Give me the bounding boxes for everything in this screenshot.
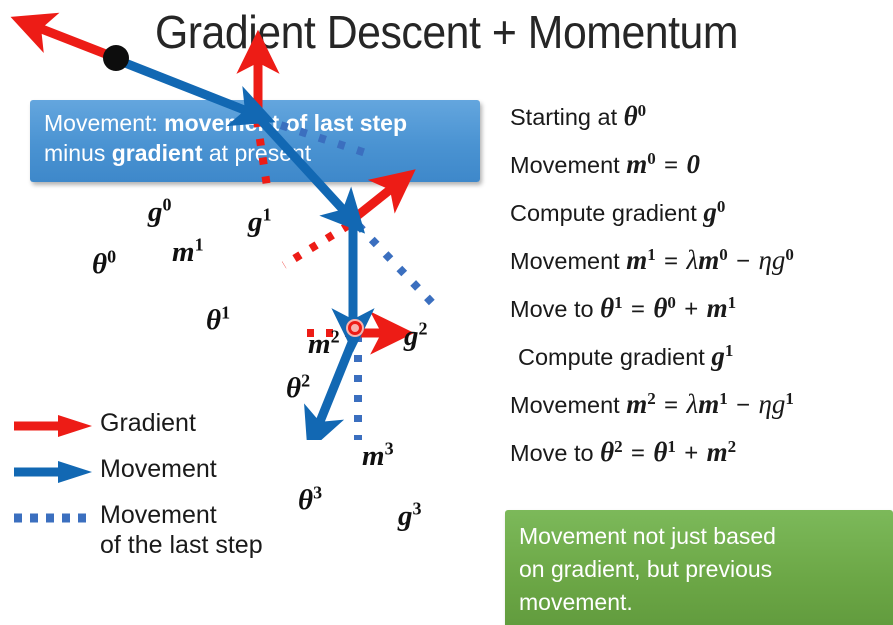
label-g0: g0 <box>148 196 172 229</box>
label-g3-base: g <box>398 500 413 532</box>
label-theta2-base: θ <box>286 372 301 404</box>
equation-6-var4-superscript: 1 <box>785 389 794 408</box>
equation-6-var1-superscript: 2 <box>647 389 656 408</box>
equation-7-var2-superscript: 1 <box>667 437 676 456</box>
equation-5-var1: g <box>711 341 725 371</box>
equation-row-3: Movement m1 = λm0 − ηg0 <box>510 236 893 284</box>
equation-row-5: Compute gradient g1 <box>510 332 893 380</box>
gradient-arrow-g0 <box>34 26 116 58</box>
equation-6-var1: m <box>626 389 647 419</box>
gradient-arrow-g2 <box>352 185 396 220</box>
label-theta2-superscript: 2 <box>301 370 310 390</box>
equation-0-var1: θ <box>624 101 638 131</box>
equation-row-0: Starting at θ0 <box>510 92 893 140</box>
label-theta3-superscript: 3 <box>313 482 322 502</box>
label-g0-superscript: 0 <box>163 194 172 214</box>
green-callout-line-2: on gradient, but previous <box>519 553 881 586</box>
equation-list: Starting at θ0Movement m0 = 0Compute gra… <box>510 92 893 476</box>
equation-7-var1: θ <box>600 437 614 467</box>
label-m3-superscript: 3 <box>385 438 394 458</box>
equation-3-var1: m <box>626 245 647 275</box>
dotted-from-theta2 <box>358 225 438 309</box>
label-g2-base: g <box>404 320 419 352</box>
label-theta3: θ3 <box>298 484 322 517</box>
equation-1-op1: = <box>656 152 687 179</box>
equation-row-6: Movement m2 = λm1 − ηg1 <box>510 380 893 428</box>
label-theta0: θ0 <box>92 248 116 281</box>
equation-4-var1: θ <box>600 293 614 323</box>
label-m3: m3 <box>362 440 394 473</box>
equation-7-var1-superscript: 2 <box>614 437 623 456</box>
label-g1-base: g <box>248 206 263 238</box>
equation-label-7: Move to <box>510 440 600 466</box>
equation-label-0: Starting at <box>510 104 624 130</box>
equation-3-var4: ηg <box>758 245 785 275</box>
equation-7-var3: m <box>707 437 728 467</box>
equation-2-var1: g <box>703 197 717 227</box>
equation-row-7: Move to θ2 = θ1 + m2 <box>510 428 893 476</box>
equation-6-var2: λ <box>687 389 699 419</box>
green-callout-line-3: movement. <box>519 586 881 619</box>
label-g2: g2 <box>404 320 428 353</box>
label-theta2: θ2 <box>286 372 310 405</box>
equation-label-6: Movement <box>510 392 626 418</box>
equation-3-var4-superscript: 0 <box>785 245 794 264</box>
equation-1-var2: 0 <box>687 149 701 179</box>
node-marker-theta0 <box>103 45 129 71</box>
label-g1-superscript: 1 <box>263 204 272 224</box>
equation-7-op1: = <box>623 440 654 467</box>
label-m2-superscript: 2 <box>331 326 340 346</box>
label-g3-superscript: 3 <box>413 498 422 518</box>
equation-3-op1: = <box>656 248 687 275</box>
equation-label-5: Compute gradient <box>518 344 711 370</box>
equation-1-var1-superscript: 0 <box>647 149 656 168</box>
label-g2-superscript: 2 <box>419 318 428 338</box>
equation-label-3: Movement <box>510 248 626 274</box>
equation-4-var1-superscript: 1 <box>614 293 623 312</box>
label-g3: g3 <box>398 500 422 533</box>
optimization-path-diagram: g0θ0m1g1θ1m2g2θ2m3θ3g3 <box>0 185 500 625</box>
equation-0-var1-superscript: 0 <box>638 101 647 120</box>
label-theta3-base: θ <box>298 484 313 516</box>
equation-5-var1-superscript: 1 <box>725 341 734 360</box>
equation-3-var2: λ <box>687 245 699 275</box>
movement-arrow-m1 <box>120 61 252 113</box>
equation-4-var2-superscript: 0 <box>667 293 676 312</box>
equation-7-var2: θ <box>653 437 667 467</box>
equation-6-op3: − <box>728 392 759 419</box>
equation-row-4: Move to θ1 = θ0 + m1 <box>510 284 893 332</box>
green-callout-line-1: Movement not just based <box>519 520 881 553</box>
label-g1: g1 <box>248 206 272 239</box>
label-m1-base: m <box>172 236 195 268</box>
equation-4-var3-superscript: 1 <box>728 293 737 312</box>
equation-6-var3: m <box>698 389 719 419</box>
gradient-arrows <box>34 26 396 333</box>
label-g0-base: g <box>148 196 163 228</box>
equation-3-var3: m <box>698 245 719 275</box>
equation-7-op2: + <box>676 440 707 467</box>
equation-6-var3-superscript: 1 <box>719 389 728 408</box>
label-theta0-base: θ <box>92 248 107 280</box>
equation-4-var2: θ <box>653 293 667 323</box>
label-theta1-superscript: 1 <box>221 302 230 322</box>
equation-row-1: Movement m0 = 0 <box>510 140 893 188</box>
equation-4-op1: = <box>623 296 654 323</box>
equation-row-2: Compute gradient g0 <box>510 188 893 236</box>
equation-label-2: Compute gradient <box>510 200 703 226</box>
equation-label-4: Move to <box>510 296 600 322</box>
equation-6-op1: = <box>656 392 687 419</box>
label-m3-base: m <box>362 440 385 472</box>
equation-4-var3: m <box>707 293 728 323</box>
equation-label-1: Movement <box>510 152 626 178</box>
equation-3-var1-superscript: 1 <box>647 245 656 264</box>
label-m1: m1 <box>172 236 204 269</box>
label-m2-base: m <box>308 328 331 360</box>
equation-1-var1: m <box>626 149 647 179</box>
red-dotted-theta2 <box>284 225 349 265</box>
movement-arrows <box>120 61 355 429</box>
slide-canvas: Gradient Descent + Momentum Movement: mo… <box>0 0 893 625</box>
equation-2-var1-superscript: 0 <box>717 197 726 216</box>
equation-3-var3-superscript: 0 <box>719 245 728 264</box>
equation-4-op2: + <box>676 296 707 323</box>
equation-3-op3: − <box>728 248 759 275</box>
label-theta1: θ1 <box>206 304 230 337</box>
equation-6-var4: ηg <box>758 389 785 419</box>
label-theta1-base: θ <box>206 304 221 336</box>
equation-7-var3-superscript: 2 <box>728 437 737 456</box>
label-m1-superscript: 1 <box>195 234 204 254</box>
label-theta0-superscript: 0 <box>107 246 116 266</box>
label-m2: m2 <box>308 328 340 361</box>
green-callout-box: Movement not just based on gradient, but… <box>505 510 893 625</box>
